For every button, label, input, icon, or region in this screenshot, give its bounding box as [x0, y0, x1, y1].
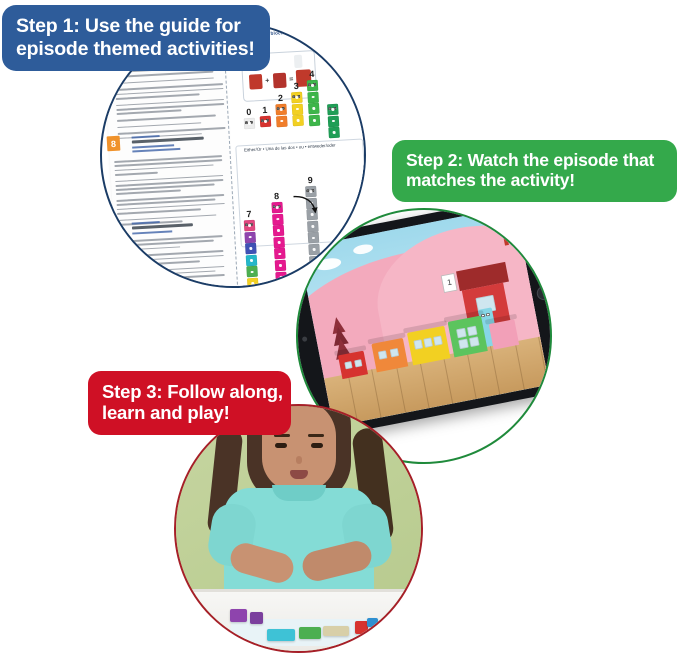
front-camera-icon — [302, 336, 308, 342]
photo-circle — [174, 404, 423, 653]
tower-label: 4 — [309, 69, 315, 79]
step-3-line-2: learn and play! — [102, 402, 277, 423]
numberblock-tower-5 — [327, 104, 340, 139]
scene-building — [337, 350, 367, 379]
tablet-screen[interactable]: 1 — [299, 208, 550, 427]
shirt — [224, 488, 374, 596]
step-1-callout: Step 1: Use the guide for episode themed… — [2, 5, 270, 71]
guide-body-text-3 — [115, 235, 226, 288]
step-1-line-1: Step 1: Use the guide for — [16, 15, 256, 38]
numberblock-tower-2: 2 — [275, 104, 287, 128]
cube-toy — [250, 612, 263, 624]
tower-label: 8 — [274, 191, 280, 201]
scene-building — [447, 315, 487, 357]
episode-number-badge: 8 — [107, 136, 121, 152]
tower-label: 0 — [246, 107, 252, 117]
step-2-callout: Step 2: Watch the episode that matches t… — [392, 140, 677, 202]
curved-arrow-icon — [291, 193, 318, 216]
tower-label: 2 — [278, 93, 284, 103]
equation-cube-0 — [249, 74, 263, 90]
cube-toy — [230, 609, 247, 622]
tower-label: 7 — [246, 209, 252, 219]
child-photo — [214, 404, 384, 612]
cube-toy — [355, 621, 368, 634]
scene-building — [488, 319, 518, 349]
step-1-line-2: episode themed activities! — [16, 38, 256, 61]
cube-toy — [367, 618, 378, 627]
numberblock-tower-1: 1 — [260, 116, 272, 128]
step-2-line-2: matches the activity! — [406, 170, 663, 190]
numberblock-tower-0: 0 — [244, 118, 256, 130]
tower-label: 9 — [307, 175, 313, 185]
cube-toy — [323, 626, 349, 636]
plus-sign: + — [265, 78, 269, 85]
tower-label: 3 — [293, 81, 299, 91]
cube-toy — [267, 629, 295, 641]
equation-label-cube — [294, 55, 303, 68]
tablet-device: 1 — [296, 208, 552, 440]
tower-label: 1 — [262, 105, 268, 115]
scene-building — [371, 337, 408, 372]
home-button[interactable] — [536, 285, 552, 301]
numberblock-tower-3: 3 — [291, 92, 304, 127]
step-3-callout: Step 3: Follow along, learn and play! — [88, 371, 291, 435]
promo-graphic: 8 — [0, 0, 679, 643]
step-2-line-1: Step 2: Watch the episode that — [406, 150, 663, 170]
cube-toy — [299, 627, 321, 639]
step-3-line-1: Step 3: Follow along, — [102, 381, 277, 402]
equation-cube-1 — [273, 73, 287, 89]
